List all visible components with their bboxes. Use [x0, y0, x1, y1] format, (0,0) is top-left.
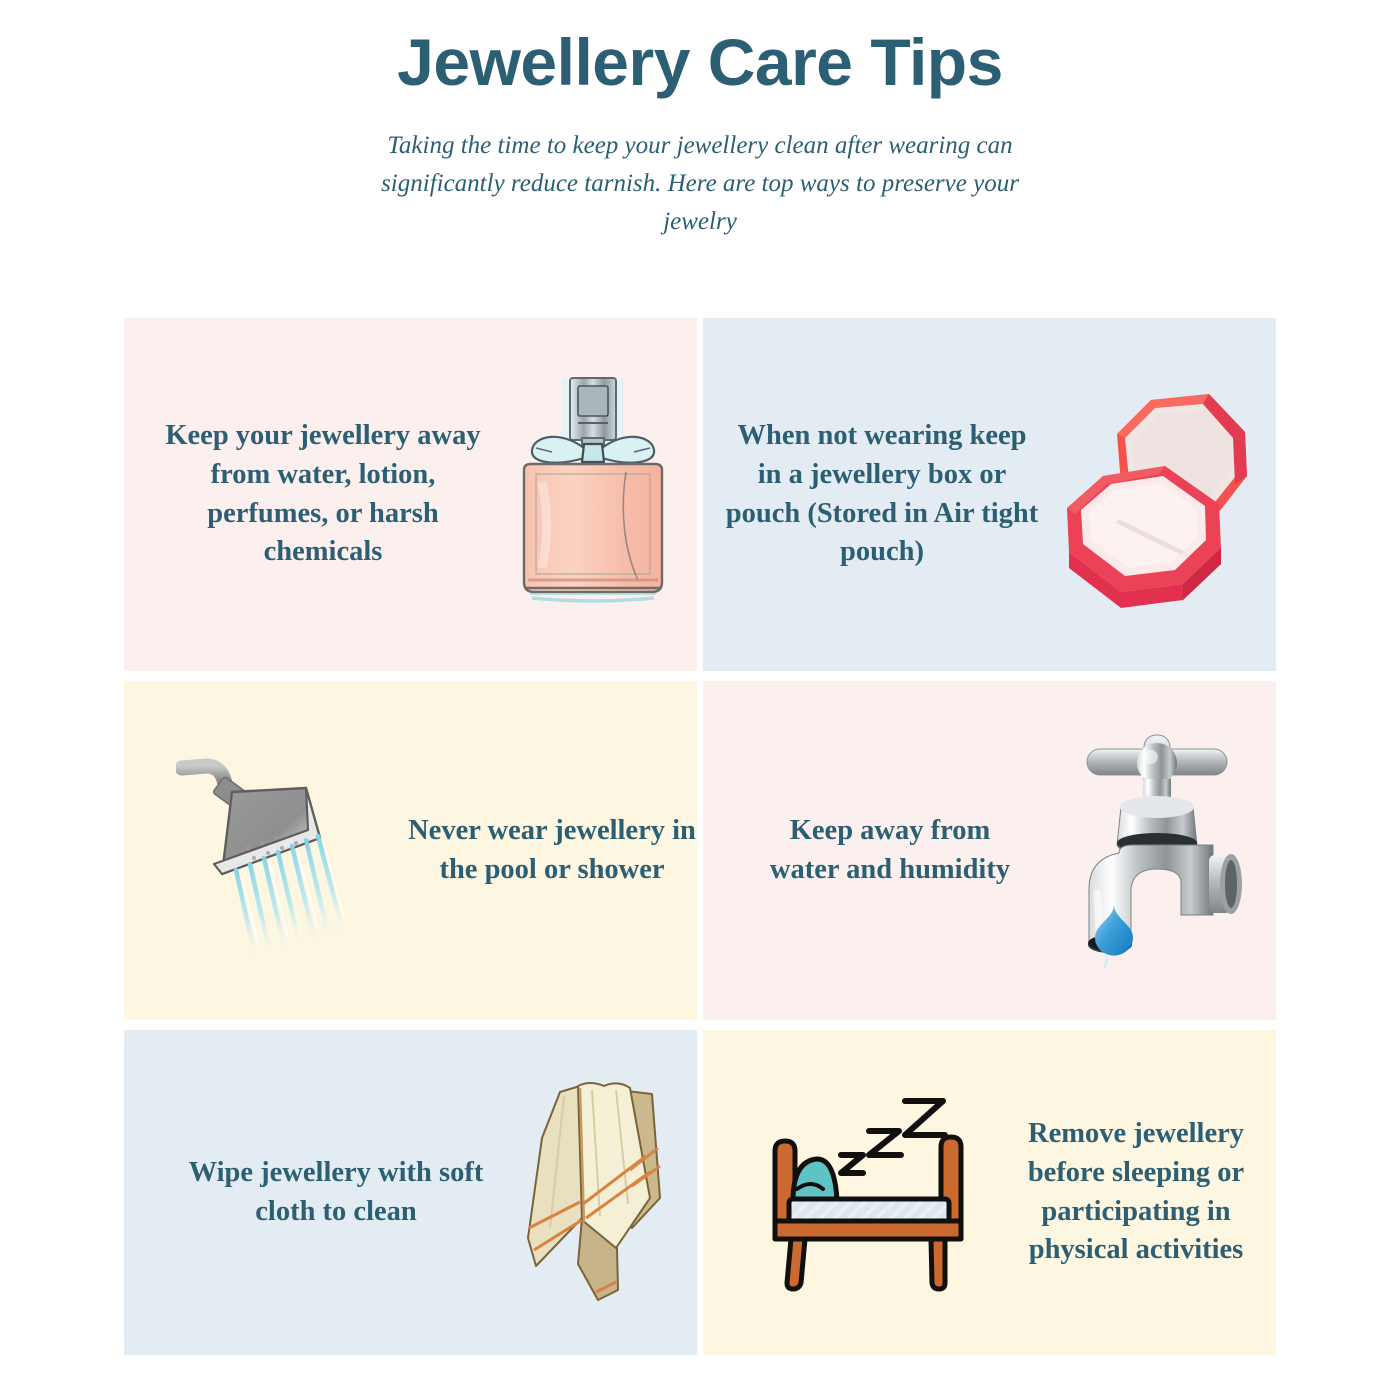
tip-card-6-label: Remove jewellery before sleeping or part… — [996, 1115, 1276, 1270]
tip-card-6: Remove jewellery before sleeping or part… — [703, 1030, 1276, 1355]
tip-card-2: When not wearing keep in a jewellery box… — [703, 318, 1276, 671]
tip-card-3: Never wear jewellery in the pool or show… — [124, 681, 697, 1020]
faucet-icon — [1073, 733, 1258, 968]
shower-head-icon — [176, 738, 391, 963]
cloth-icon — [520, 1078, 685, 1308]
page-title: Jewellery Care Tips — [0, 26, 1400, 99]
tip-card-3-label: Never wear jewellery in the pool or show… — [407, 812, 697, 890]
bed-zzz-icon — [759, 1093, 974, 1293]
header: Jewellery Care Tips Taking the time to k… — [0, 0, 1400, 241]
tips-grid: Keep your jewellery away from water, lot… — [124, 318, 1276, 1355]
tip-card-4: Keep away from water and humidity — [703, 681, 1276, 1020]
infographic-page: Jewellery Care Tips Taking the time to k… — [0, 0, 1400, 1400]
tip-card-2-label: When not wearing keep in a jewellery box… — [725, 417, 1039, 572]
tip-card-5-label: Wipe jewellery with soft cloth to clean — [186, 1154, 486, 1232]
tip-card-1-label: Keep your jewellery away from water, lot… — [158, 417, 488, 572]
perfume-bottle-icon — [498, 370, 688, 620]
ring-box-icon — [1059, 380, 1259, 610]
page-subtitle: Taking the time to keep your jewellery c… — [380, 127, 1020, 241]
tip-card-4-label: Keep away from water and humidity — [765, 812, 1015, 890]
tip-card-1: Keep your jewellery away from water, lot… — [124, 318, 697, 671]
tip-card-5: Wipe jewellery with soft cloth to clean — [124, 1030, 697, 1355]
